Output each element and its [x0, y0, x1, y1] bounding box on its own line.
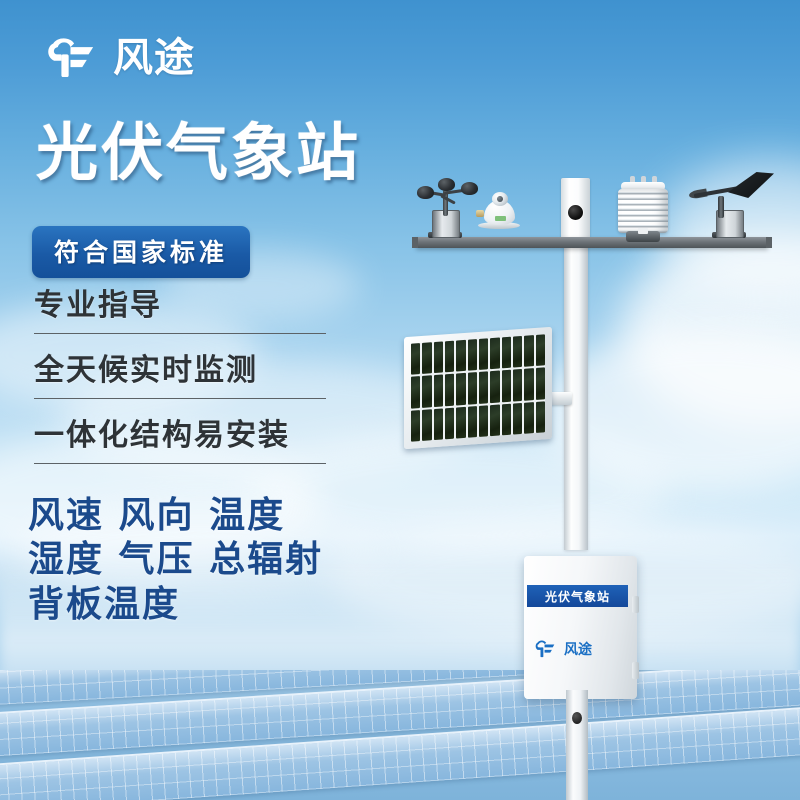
solar-cell	[513, 369, 522, 401]
solar-cell	[422, 342, 431, 374]
solar-panel-frame	[404, 327, 552, 449]
solar-cell	[422, 376, 431, 408]
standard-badge: 符合国家标准	[32, 226, 250, 278]
solar-cell	[411, 376, 420, 408]
shield-louver-stack	[618, 189, 668, 233]
wind-vane-shaft	[718, 196, 724, 218]
feature-item: 全天候实时监测	[34, 343, 326, 399]
measured-parameters-list: 风速 风向 温度 湿度 气压 总辐射 背板温度	[28, 493, 323, 626]
solar-cell	[513, 336, 522, 368]
parameter-line: 湿度 气压 总辐射	[28, 537, 323, 581]
shield-probe	[638, 228, 648, 234]
crossarm-end-cap	[412, 237, 418, 248]
page-title: 光伏气象站	[36, 122, 361, 184]
sensor-crossarm	[416, 237, 768, 248]
solar-cell	[456, 340, 465, 372]
solar-cell	[490, 404, 499, 436]
anemometer-cup	[461, 182, 478, 195]
solar-cell	[479, 338, 488, 370]
crossarm-end-cap	[766, 237, 772, 248]
enclosure-brand-logo: 风途	[534, 637, 626, 661]
solar-cell	[536, 401, 545, 433]
enclosure-hinge	[632, 662, 639, 679]
anemometer-cup	[417, 186, 434, 199]
feature-list: 专业指导 全天候实时监测 一体化结构易安装	[34, 278, 326, 464]
fengtu-cloud-logo-icon	[46, 36, 104, 80]
solar-panel-cells	[411, 334, 545, 441]
product-poster: 光伏气象站 风途 风途 光伏气象站 符合国家标准 专业指导 全天	[0, 0, 800, 800]
solar-cell	[490, 337, 499, 369]
anemometer-cup	[438, 178, 455, 191]
mast-lower-pole	[566, 690, 588, 800]
enclosure-banner-label: 光伏气象站	[545, 588, 610, 605]
solar-cell	[479, 372, 488, 404]
solar-cell	[434, 341, 443, 373]
standard-badge-label: 符合国家标准	[54, 238, 228, 267]
solar-cell	[411, 343, 420, 375]
brand-logo: 风途	[46, 36, 195, 80]
solar-cell	[468, 372, 477, 404]
fengtu-cloud-logo-icon	[534, 639, 560, 659]
mast-lower-port-icon	[572, 712, 582, 724]
solar-cell	[513, 403, 522, 435]
brand-name: 风途	[113, 38, 195, 78]
solar-cell	[445, 407, 454, 439]
solar-cell	[434, 375, 443, 407]
parameter-line: 风速 风向 温度	[28, 493, 323, 537]
solar-cell	[468, 406, 477, 438]
solar-panel	[404, 327, 552, 449]
wind-vane-fin	[728, 172, 774, 198]
pyranometer-connector	[476, 210, 484, 217]
solar-cell	[502, 370, 511, 402]
solar-cell	[502, 403, 511, 435]
enclosure-logo-text: 风途	[564, 639, 592, 659]
solar-cell	[468, 339, 477, 371]
solar-cell	[536, 368, 545, 400]
enclosure-hinge	[632, 596, 639, 613]
controller-enclosure	[524, 556, 637, 699]
solar-cell	[502, 337, 511, 369]
solar-cell	[524, 368, 533, 400]
parameter-line: 背板温度	[28, 582, 323, 626]
solar-cell	[456, 407, 465, 439]
solar-cell	[524, 402, 533, 434]
solar-cell	[445, 341, 454, 373]
mast-camera-port-icon	[568, 205, 583, 220]
solar-cell	[479, 405, 488, 437]
solar-cell	[445, 374, 454, 406]
pyranometer-label	[495, 216, 506, 221]
solar-cell	[536, 334, 545, 366]
solar-cell	[411, 410, 420, 442]
solar-cell	[524, 335, 533, 367]
solar-cell	[490, 371, 499, 403]
feature-item: 专业指导	[34, 278, 326, 334]
pyranometer-sensor-dot	[497, 196, 503, 202]
solar-cell	[422, 409, 431, 441]
solar-cell	[434, 408, 443, 440]
enclosure-banner: 光伏气象站	[527, 585, 628, 607]
feature-item: 一体化结构易安装	[34, 408, 326, 464]
solar-cell	[456, 373, 465, 405]
